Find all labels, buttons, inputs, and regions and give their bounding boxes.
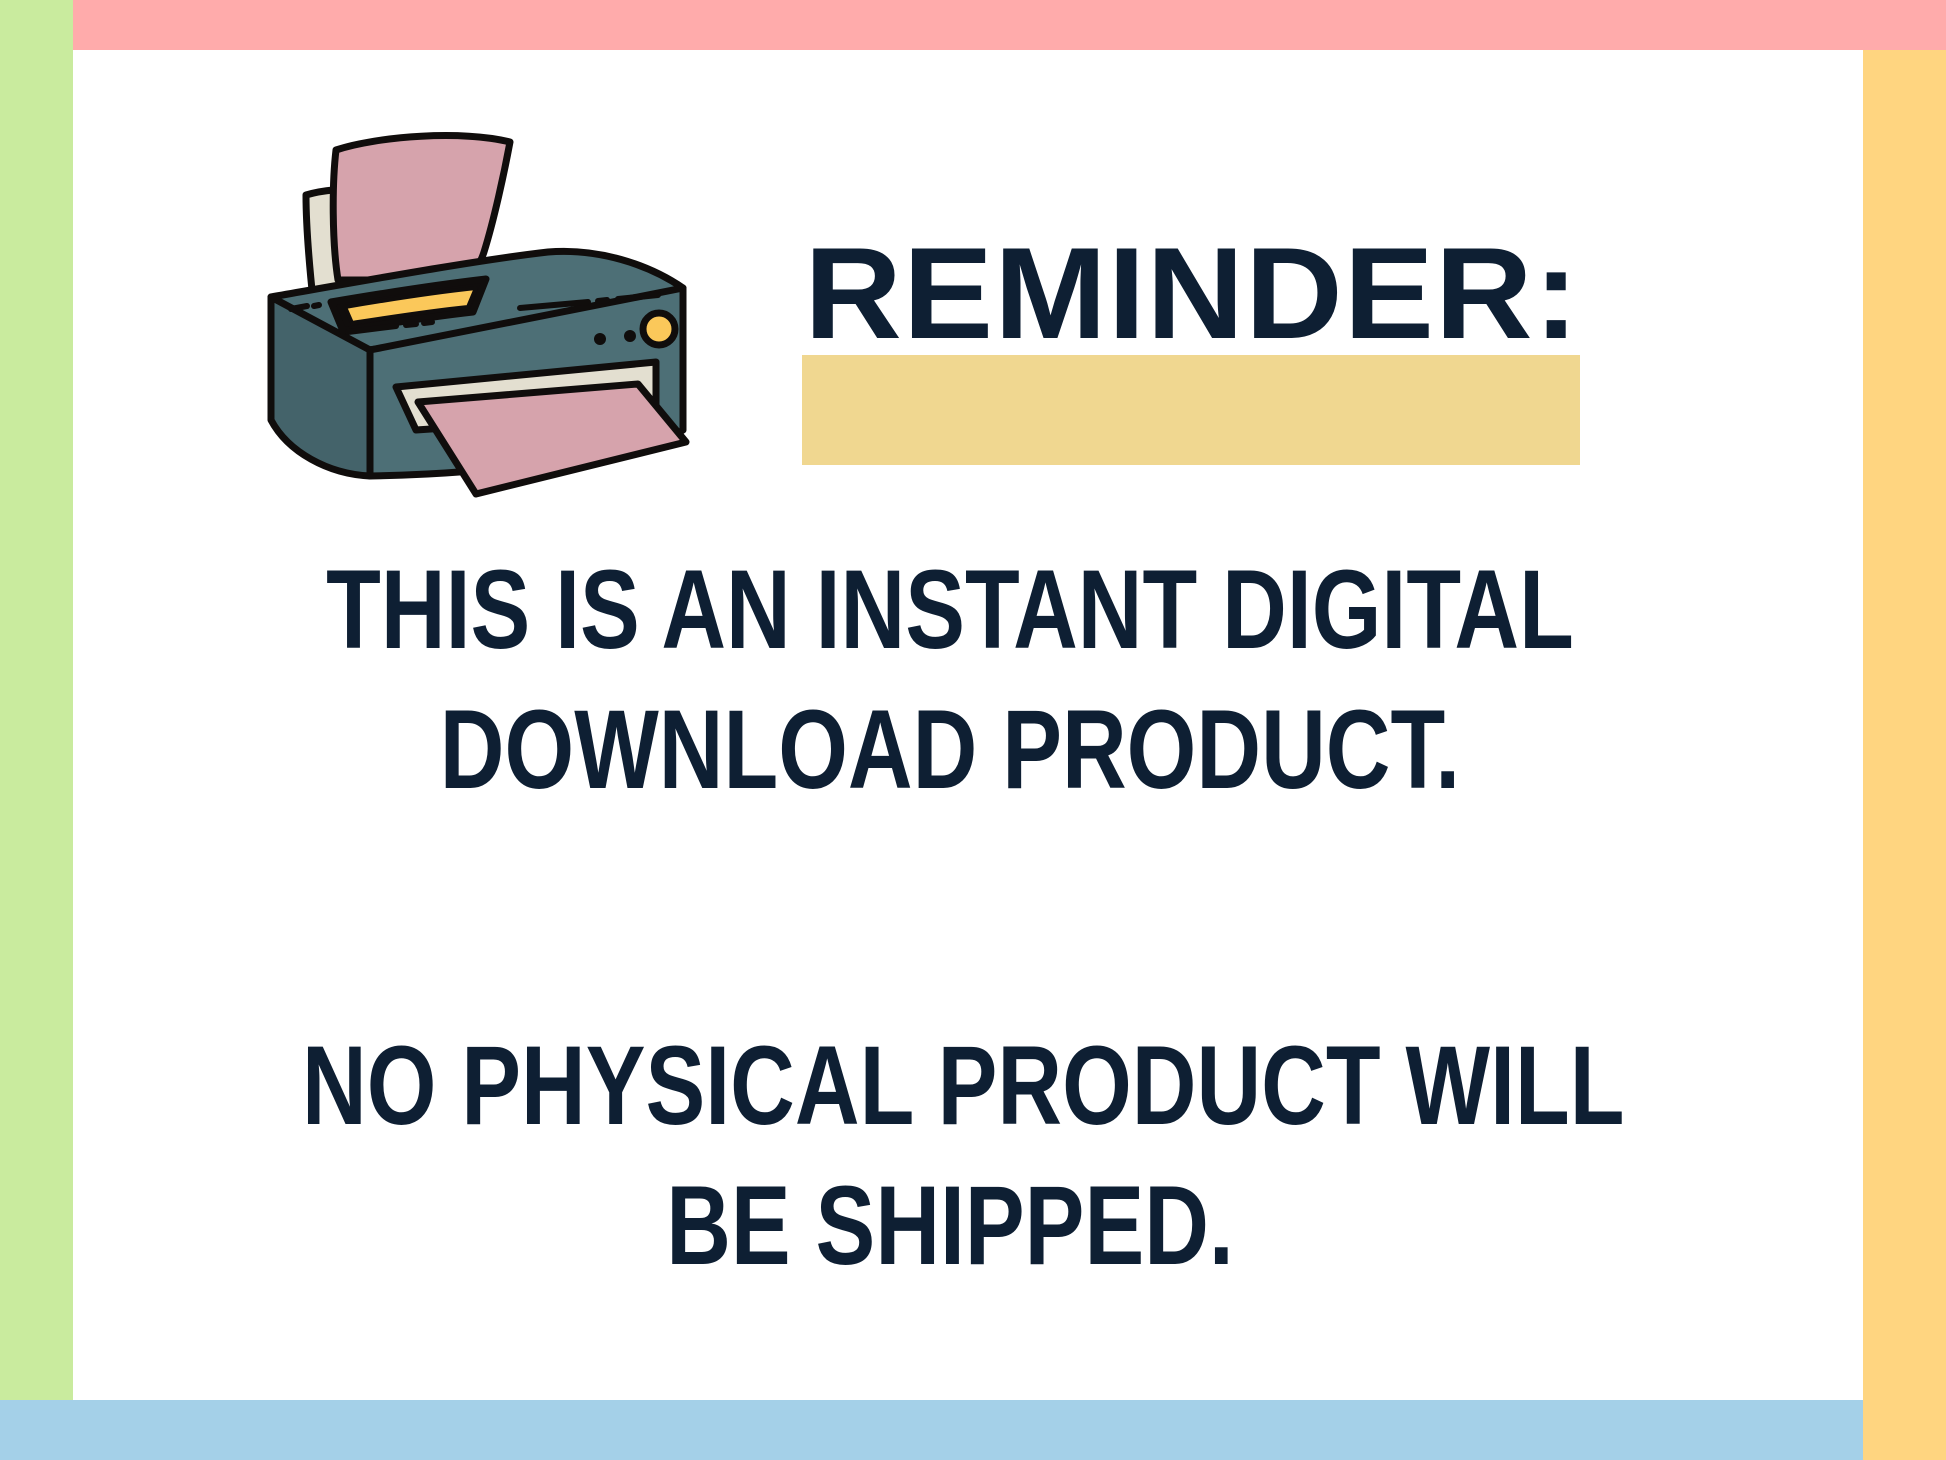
headline-highlight-bar	[802, 355, 1580, 465]
headline-text: REMINDER:	[786, 228, 1597, 358]
body-line-4: BE SHIPPED.	[302, 1156, 1598, 1296]
printer-icon	[248, 112, 708, 524]
output-paper	[418, 384, 686, 494]
printer-seam-dash-1	[291, 306, 307, 309]
printer-indicator-dot-2	[624, 330, 636, 342]
body-line-1: THIS IS AN INSTANT DIGITAL	[302, 540, 1598, 680]
printer-power-button	[643, 313, 675, 345]
headline-block: REMINDER:	[802, 228, 1582, 468]
body-line-3: NO PHYSICAL PRODUCT WILL	[302, 1016, 1598, 1156]
body-copy-block: THIS IS AN INSTANT DIGITAL DOWNLOAD PROD…	[140, 540, 1760, 1296]
printer-seam-dash-4	[598, 300, 607, 301]
border-band-left	[0, 0, 73, 1400]
body-line-2: DOWNLOAD PRODUCT.	[302, 680, 1598, 820]
printer-indicator-dot-1	[594, 333, 606, 345]
printer-illustration-svg	[248, 112, 708, 524]
border-band-right	[1863, 50, 1946, 1460]
printer-seam-dash-8	[424, 322, 432, 323]
border-band-top	[73, 0, 1946, 50]
poster-canvas: REMINDER: THIS IS AN INSTANT DIGITAL DOW…	[0, 0, 1946, 1460]
printer-seam-dash-7	[406, 324, 416, 325]
printer-seam-dash-5	[618, 295, 658, 299]
printer-seam-dash-2	[314, 305, 319, 306]
border-band-bottom	[0, 1400, 1863, 1460]
body-line-spacer	[140, 820, 1760, 1016]
